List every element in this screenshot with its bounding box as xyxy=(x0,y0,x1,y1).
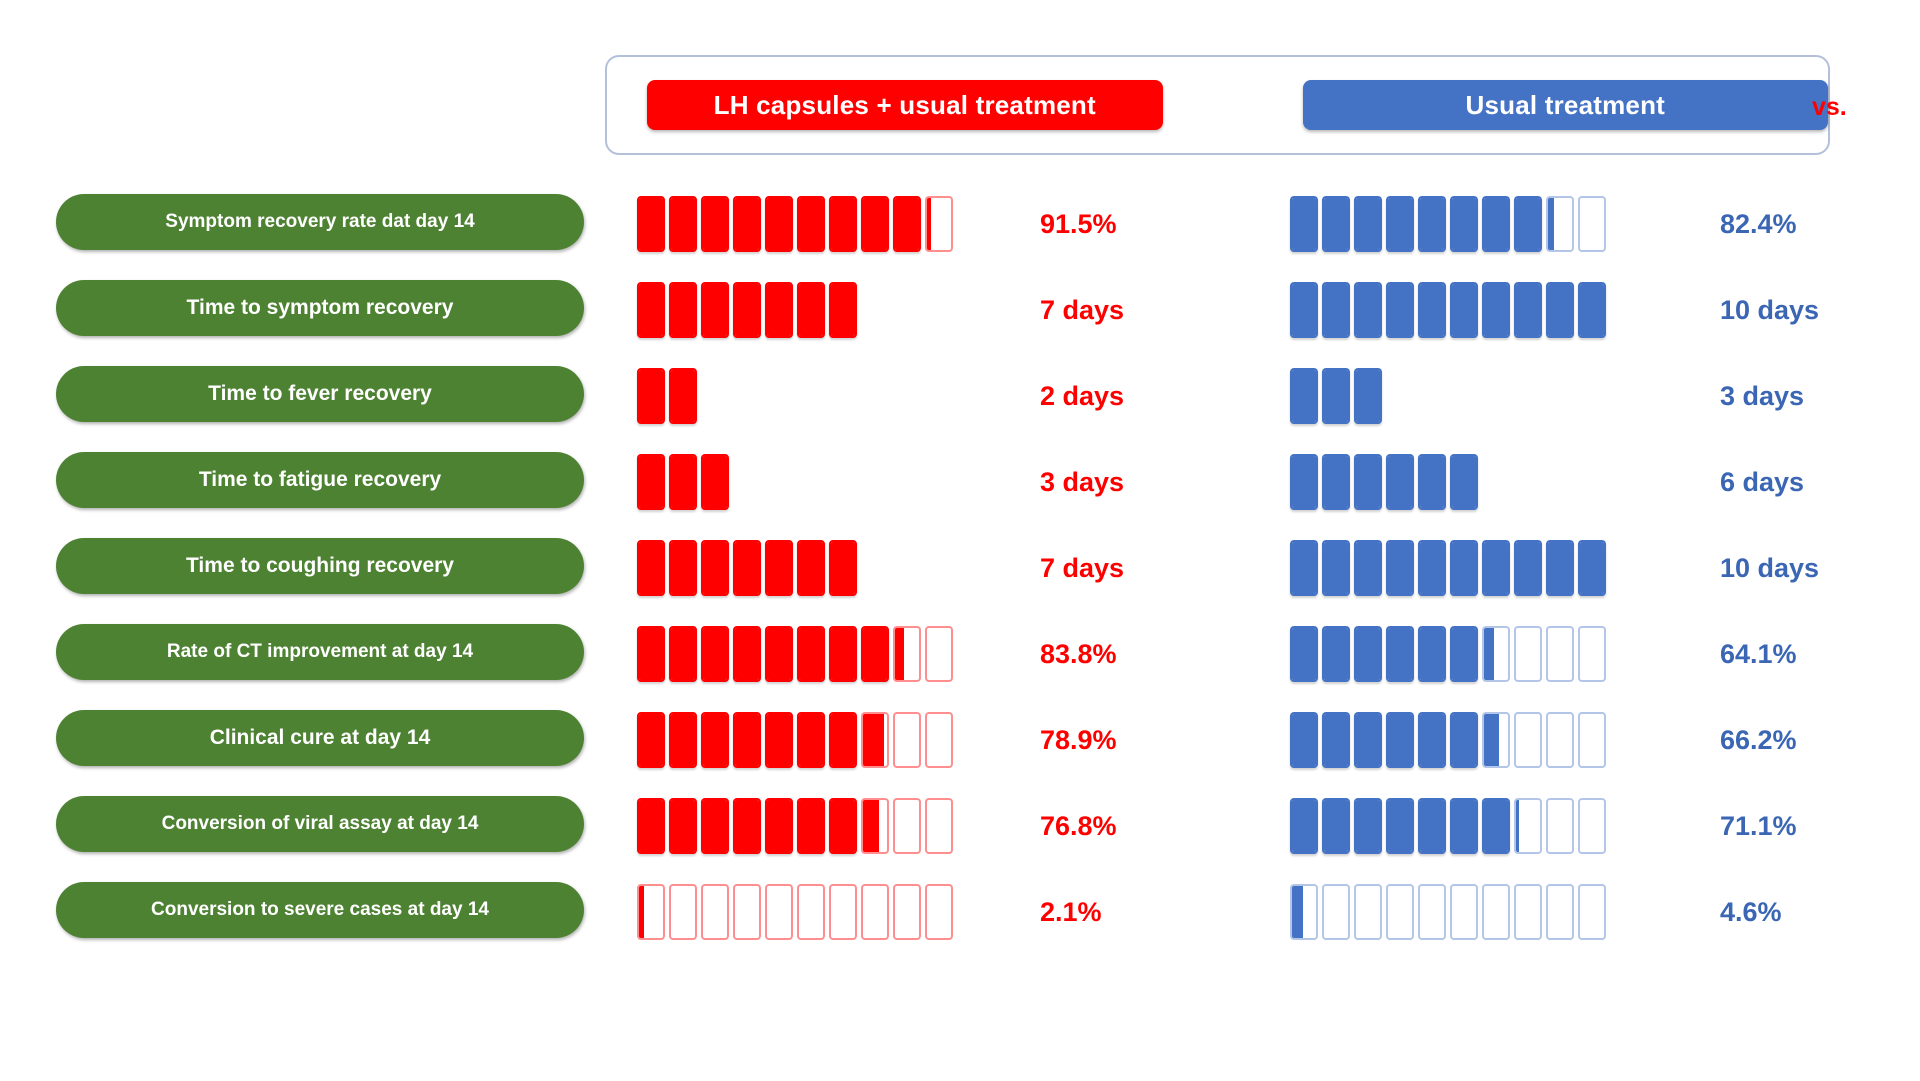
bar-block-fill xyxy=(1548,284,1572,336)
bar-block-fill xyxy=(863,714,884,766)
bar-block xyxy=(733,884,761,940)
bar-block-fill xyxy=(703,198,727,250)
bar-block-fill xyxy=(799,284,823,336)
bar-block xyxy=(1578,540,1606,596)
bar-block xyxy=(1354,454,1382,510)
bar-block-fill xyxy=(671,542,695,594)
bar-block xyxy=(1290,282,1318,338)
metric-row: Time to fever recovery2 days3 days xyxy=(0,358,1920,444)
bar-block xyxy=(701,540,729,596)
legend-pill-control[interactable]: Usual treatment xyxy=(1303,80,1828,130)
bar-block xyxy=(733,282,761,338)
bar-block-fill xyxy=(735,714,759,766)
metric-label: Conversion to severe cases at day 14 xyxy=(56,882,584,938)
bar-block-fill xyxy=(1516,542,1540,594)
legend-box: LH capsules + usual treatment vs. Usual … xyxy=(605,55,1830,155)
bar-block-fill xyxy=(1356,370,1380,422)
bar-block-fill xyxy=(1452,628,1476,680)
bar-block-fill xyxy=(1388,284,1412,336)
bar-block xyxy=(1290,712,1318,768)
bar-block xyxy=(701,712,729,768)
bar-block-fill xyxy=(767,542,791,594)
bar-block-fill xyxy=(863,198,887,250)
bar-block-fill xyxy=(1388,542,1412,594)
bar-block xyxy=(893,884,921,940)
bar-block xyxy=(861,884,889,940)
bar-block-fill xyxy=(703,714,727,766)
bar-block-fill xyxy=(639,800,663,852)
bar-block xyxy=(637,454,665,510)
bar-block xyxy=(1546,196,1574,252)
value-label-treatment: 78.9% xyxy=(1040,712,1117,768)
bar-block xyxy=(1514,884,1542,940)
bar-block-fill xyxy=(1356,542,1380,594)
bar-block-fill xyxy=(639,886,644,938)
bar-block-fill xyxy=(1388,800,1412,852)
bar-block xyxy=(797,540,825,596)
bar-block-fill xyxy=(735,628,759,680)
bar-block-fill xyxy=(799,714,823,766)
bar-block-fill xyxy=(1420,628,1444,680)
bar-block xyxy=(1418,884,1446,940)
bar-block-fill xyxy=(1548,198,1554,250)
bar-block-fill xyxy=(1452,456,1476,508)
bar-group-blue xyxy=(1290,368,1382,424)
bar-block xyxy=(637,540,665,596)
bar-block xyxy=(1322,282,1350,338)
bar-block-fill xyxy=(863,800,879,852)
bar-block xyxy=(1514,282,1542,338)
bar-block xyxy=(1322,368,1350,424)
bar-block xyxy=(829,540,857,596)
bar-block-fill xyxy=(1324,370,1348,422)
bar-block xyxy=(925,626,953,682)
bar-group-red xyxy=(637,196,953,252)
bar-block xyxy=(765,282,793,338)
bar-block xyxy=(1450,540,1478,596)
value-label-treatment: 7 days xyxy=(1040,282,1124,338)
bar-block-fill xyxy=(1356,456,1380,508)
bar-block xyxy=(893,196,921,252)
value-label-treatment: 2 days xyxy=(1040,368,1124,424)
bar-block xyxy=(701,196,729,252)
bar-block-fill xyxy=(735,284,759,336)
bar-block-fill xyxy=(1420,198,1444,250)
bar-block xyxy=(765,884,793,940)
bar-block xyxy=(1482,626,1510,682)
bar-block-fill xyxy=(735,800,759,852)
bar-block-fill xyxy=(639,628,663,680)
metric-label: Time to fever recovery xyxy=(56,366,584,422)
value-label-treatment: 91.5% xyxy=(1040,196,1117,252)
bar-block xyxy=(1354,798,1382,854)
metric-label: Symptom recovery rate dat day 14 xyxy=(56,194,584,250)
bar-group-blue xyxy=(1290,884,1606,940)
bar-block-fill xyxy=(671,800,695,852)
bar-block-fill xyxy=(1292,886,1303,938)
bar-block xyxy=(1354,712,1382,768)
bar-block-fill xyxy=(1420,800,1444,852)
bar-block xyxy=(1482,540,1510,596)
bar-block-fill xyxy=(1324,542,1348,594)
bar-block xyxy=(1354,540,1382,596)
bar-block xyxy=(733,798,761,854)
bar-block xyxy=(669,712,697,768)
bar-block xyxy=(733,712,761,768)
bar-block-fill xyxy=(703,542,727,594)
value-label-treatment: 76.8% xyxy=(1040,798,1117,854)
bar-block xyxy=(1322,712,1350,768)
bar-block xyxy=(829,884,857,940)
bar-block xyxy=(669,196,697,252)
metric-label: Time to coughing recovery xyxy=(56,538,584,594)
bar-group-blue xyxy=(1290,282,1606,338)
bar-block-fill xyxy=(703,800,727,852)
bar-block xyxy=(1322,196,1350,252)
bar-block xyxy=(1578,798,1606,854)
bar-block-fill xyxy=(863,628,887,680)
bar-block xyxy=(797,884,825,940)
metric-row: Time to fatigue recovery3 days6 days xyxy=(0,444,1920,530)
bar-block-fill xyxy=(1452,198,1476,250)
bar-group-red xyxy=(637,454,729,510)
metric-row: Clinical cure at day 1478.9%66.2% xyxy=(0,702,1920,788)
bar-block-fill xyxy=(1388,198,1412,250)
bar-block xyxy=(1322,626,1350,682)
bar-block xyxy=(1546,626,1574,682)
bar-block-fill xyxy=(1356,284,1380,336)
value-label-control: 10 days xyxy=(1720,540,1819,596)
metric-label: Time to symptom recovery xyxy=(56,280,584,336)
bar-block xyxy=(1546,282,1574,338)
value-label-treatment: 2.1% xyxy=(1040,884,1102,940)
bar-block xyxy=(925,798,953,854)
bar-block-fill xyxy=(671,284,695,336)
versus-label: vs. xyxy=(1812,57,1847,157)
value-label-treatment: 83.8% xyxy=(1040,626,1117,682)
bar-block-fill xyxy=(735,542,759,594)
bar-block xyxy=(797,712,825,768)
bar-block-fill xyxy=(799,800,823,852)
bar-block xyxy=(1546,884,1574,940)
legend-pill-treatment[interactable]: LH capsules + usual treatment xyxy=(647,80,1163,130)
bar-block-fill xyxy=(1516,284,1540,336)
bar-group-red xyxy=(637,282,857,338)
value-label-control: 64.1% xyxy=(1720,626,1797,682)
bar-group-blue xyxy=(1290,712,1606,768)
bar-block xyxy=(861,196,889,252)
bar-block xyxy=(1290,540,1318,596)
bar-block xyxy=(797,282,825,338)
bar-block xyxy=(1386,884,1414,940)
value-label-treatment: 7 days xyxy=(1040,540,1124,596)
bar-block xyxy=(1354,282,1382,338)
bar-block xyxy=(829,196,857,252)
bar-block-fill xyxy=(639,714,663,766)
bar-block-fill xyxy=(703,284,727,336)
bar-block xyxy=(637,626,665,682)
bar-block-fill xyxy=(1516,800,1519,852)
value-label-control: 71.1% xyxy=(1720,798,1797,854)
bar-block-fill xyxy=(1324,800,1348,852)
bar-block xyxy=(1418,454,1446,510)
bar-block-fill xyxy=(1420,542,1444,594)
value-label-control: 4.6% xyxy=(1720,884,1782,940)
bar-block-fill xyxy=(1292,628,1316,680)
bar-block xyxy=(829,712,857,768)
bar-block-fill xyxy=(1292,800,1316,852)
bar-block xyxy=(701,282,729,338)
bar-block-fill xyxy=(767,714,791,766)
bar-group-blue xyxy=(1290,454,1478,510)
bar-block-fill xyxy=(1548,542,1572,594)
value-label-control: 3 days xyxy=(1720,368,1804,424)
bar-block-fill xyxy=(1324,714,1348,766)
bar-block-fill xyxy=(831,542,855,594)
bar-block xyxy=(1482,712,1510,768)
bar-block xyxy=(765,626,793,682)
bar-block xyxy=(893,626,921,682)
metric-row: Conversion of viral assay at day 1476.8%… xyxy=(0,788,1920,874)
metric-row: Rate of CT improvement at day 1483.8%64.… xyxy=(0,616,1920,702)
bar-block xyxy=(1418,196,1446,252)
bar-block xyxy=(861,712,889,768)
bar-block xyxy=(669,798,697,854)
metric-row: Time to coughing recovery7 days10 days xyxy=(0,530,1920,616)
bar-block-fill xyxy=(1452,542,1476,594)
bar-block-fill xyxy=(831,628,855,680)
bar-block-fill xyxy=(1324,456,1348,508)
bar-block xyxy=(637,884,665,940)
bar-block xyxy=(1386,196,1414,252)
bar-block xyxy=(1514,798,1542,854)
bar-block xyxy=(1450,282,1478,338)
bar-block-fill xyxy=(1356,800,1380,852)
bar-block xyxy=(861,626,889,682)
value-label-treatment: 3 days xyxy=(1040,454,1124,510)
bar-block xyxy=(829,798,857,854)
bar-block xyxy=(765,540,793,596)
bar-block-fill xyxy=(703,628,727,680)
bar-block-fill xyxy=(1356,198,1380,250)
bar-block xyxy=(1354,884,1382,940)
bar-block xyxy=(765,196,793,252)
bar-block xyxy=(1354,368,1382,424)
bar-block xyxy=(669,368,697,424)
bar-block xyxy=(701,454,729,510)
bar-block xyxy=(1578,282,1606,338)
bar-block xyxy=(1482,884,1510,940)
bar-block-fill xyxy=(831,714,855,766)
bar-block xyxy=(733,196,761,252)
bar-block xyxy=(637,196,665,252)
bar-block-fill xyxy=(767,628,791,680)
bar-block-fill xyxy=(1580,284,1604,336)
bar-block xyxy=(1482,282,1510,338)
bar-block-fill xyxy=(671,456,695,508)
bar-block-fill xyxy=(1484,198,1508,250)
bar-block-fill xyxy=(1292,456,1316,508)
bar-block-fill xyxy=(799,628,823,680)
bar-block xyxy=(1514,712,1542,768)
metric-row: Conversion to severe cases at day 142.1%… xyxy=(0,874,1920,960)
bar-block xyxy=(1290,454,1318,510)
bar-block-fill xyxy=(639,284,663,336)
bar-block-fill xyxy=(1484,628,1494,680)
value-label-control: 82.4% xyxy=(1720,196,1797,252)
bar-group-blue xyxy=(1290,196,1606,252)
bar-block xyxy=(669,454,697,510)
bar-group-blue xyxy=(1290,626,1606,682)
bar-block-fill xyxy=(1484,542,1508,594)
metric-label: Rate of CT improvement at day 14 xyxy=(56,624,584,680)
bar-block xyxy=(925,884,953,940)
bar-block-fill xyxy=(831,800,855,852)
bar-block-fill xyxy=(671,628,695,680)
bar-block xyxy=(1450,626,1478,682)
bar-block xyxy=(1514,626,1542,682)
bar-block xyxy=(1322,454,1350,510)
metric-rows: Symptom recovery rate dat day 1491.5%82.… xyxy=(0,186,1920,960)
bar-block-fill xyxy=(1324,284,1348,336)
bar-block-fill xyxy=(1452,800,1476,852)
bar-group-blue xyxy=(1290,798,1606,854)
bar-block xyxy=(765,712,793,768)
metric-row: Symptom recovery rate dat day 1491.5%82.… xyxy=(0,186,1920,272)
bar-block-fill xyxy=(1452,284,1476,336)
bar-group-blue xyxy=(1290,540,1606,596)
bar-block-fill xyxy=(671,714,695,766)
bar-block-fill xyxy=(735,198,759,250)
bar-block xyxy=(1354,626,1382,682)
bar-block xyxy=(669,884,697,940)
bar-block-fill xyxy=(1420,456,1444,508)
bar-block xyxy=(1514,540,1542,596)
bar-block xyxy=(829,282,857,338)
bar-block xyxy=(1322,540,1350,596)
bar-block xyxy=(1450,884,1478,940)
bar-block-fill xyxy=(639,198,663,250)
bar-block xyxy=(1386,540,1414,596)
bar-block xyxy=(733,626,761,682)
bar-group-red xyxy=(637,626,953,682)
bar-block xyxy=(829,626,857,682)
bar-block xyxy=(1514,196,1542,252)
bar-block-fill xyxy=(1388,456,1412,508)
bar-block xyxy=(1290,196,1318,252)
bar-block-fill xyxy=(1292,284,1316,336)
bar-block-fill xyxy=(831,284,855,336)
bar-block xyxy=(1386,282,1414,338)
bar-block-fill xyxy=(639,456,663,508)
bar-block xyxy=(925,196,953,252)
bar-block-fill xyxy=(1292,370,1316,422)
bar-block xyxy=(1450,798,1478,854)
bar-block xyxy=(797,798,825,854)
bar-block-fill xyxy=(703,456,727,508)
bar-block-fill xyxy=(1388,714,1412,766)
bar-block xyxy=(669,282,697,338)
bar-block xyxy=(1290,626,1318,682)
bar-block-fill xyxy=(799,198,823,250)
bar-block xyxy=(1418,712,1446,768)
bar-block-fill xyxy=(1484,800,1508,852)
metric-label: Clinical cure at day 14 xyxy=(56,710,584,766)
bar-block xyxy=(1546,540,1574,596)
bar-block xyxy=(1546,712,1574,768)
bar-block xyxy=(1386,454,1414,510)
bar-block-fill xyxy=(767,198,791,250)
bar-block xyxy=(1322,884,1350,940)
bar-block-fill xyxy=(895,628,904,680)
bar-block xyxy=(637,282,665,338)
bar-block-fill xyxy=(1420,284,1444,336)
bar-block-fill xyxy=(1484,284,1508,336)
bar-block xyxy=(1578,196,1606,252)
bar-block xyxy=(701,798,729,854)
bar-block-fill xyxy=(767,800,791,852)
bar-block xyxy=(1450,454,1478,510)
bar-block-fill xyxy=(1420,714,1444,766)
bar-block xyxy=(1578,626,1606,682)
bar-block-fill xyxy=(1324,198,1348,250)
bar-group-red xyxy=(637,798,953,854)
bar-block-fill xyxy=(639,542,663,594)
bar-block-fill xyxy=(1452,714,1476,766)
bar-block xyxy=(669,626,697,682)
bar-block-fill xyxy=(1292,714,1316,766)
bar-block-fill xyxy=(1388,628,1412,680)
bar-block-fill xyxy=(927,198,931,250)
bar-block-fill xyxy=(671,198,695,250)
bar-block-fill xyxy=(767,284,791,336)
value-label-control: 6 days xyxy=(1720,454,1804,510)
bar-block-fill xyxy=(1292,198,1316,250)
metric-label: Conversion of viral assay at day 14 xyxy=(56,796,584,852)
bar-block xyxy=(1290,368,1318,424)
bar-block xyxy=(701,626,729,682)
bar-block xyxy=(1386,798,1414,854)
bar-block xyxy=(637,712,665,768)
bar-block xyxy=(1386,626,1414,682)
bar-block xyxy=(701,884,729,940)
bar-block xyxy=(733,540,761,596)
bar-block xyxy=(893,712,921,768)
metric-row: Time to symptom recovery7 days10 days xyxy=(0,272,1920,358)
bar-block xyxy=(1386,712,1414,768)
bar-block-fill xyxy=(1292,542,1316,594)
bar-block xyxy=(1546,798,1574,854)
bar-block xyxy=(637,798,665,854)
bar-block-fill xyxy=(831,198,855,250)
bar-block-fill xyxy=(799,542,823,594)
bar-block xyxy=(797,626,825,682)
bar-block xyxy=(1578,884,1606,940)
bar-block xyxy=(861,798,889,854)
bar-block xyxy=(1290,884,1318,940)
value-label-control: 66.2% xyxy=(1720,712,1797,768)
bar-block-fill xyxy=(1484,714,1499,766)
bar-block xyxy=(1482,798,1510,854)
bar-group-red xyxy=(637,712,953,768)
bar-block xyxy=(765,798,793,854)
bar-block xyxy=(1482,196,1510,252)
bar-block xyxy=(1354,196,1382,252)
bar-block xyxy=(1450,712,1478,768)
bar-group-red xyxy=(637,884,953,940)
bar-block xyxy=(925,712,953,768)
metric-label: Time to fatigue recovery xyxy=(56,452,584,508)
